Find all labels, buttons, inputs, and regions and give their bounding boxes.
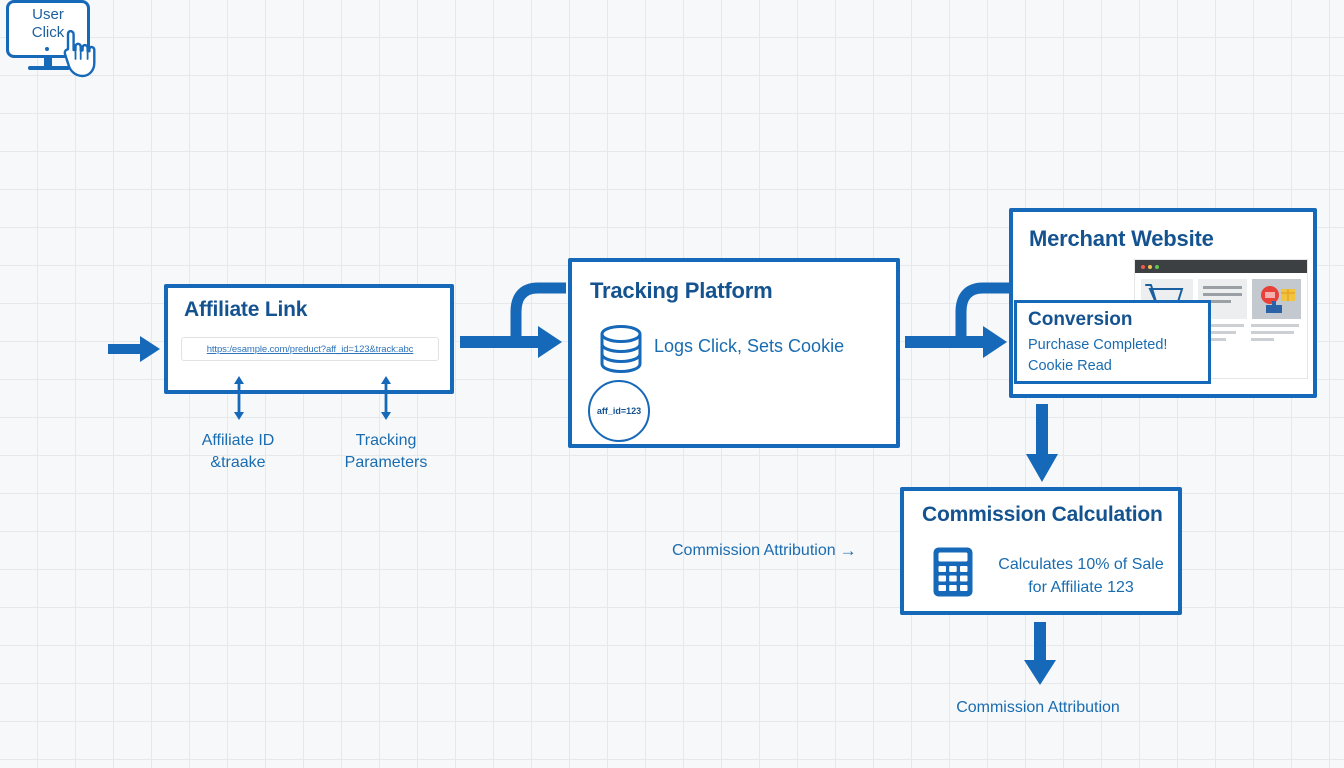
commission-calculation-title: Commission Calculation: [922, 503, 1163, 527]
affiliate-link-title: Affiliate Link: [184, 298, 307, 322]
commission-attribution-bottom-label: Commission Attribution: [898, 697, 1178, 719]
commission-calculation-node[interactable]: Commission Calculation Calculates 10% of…: [900, 487, 1182, 615]
commission-caption-line2: for Affiliate 123: [986, 576, 1176, 599]
callout-arrow-affiliate-id: [232, 376, 246, 420]
conversion-line1: Purchase Completed!: [1028, 335, 1167, 356]
calculator-icon: [932, 546, 974, 598]
browser-dot-yellow-icon: [1148, 265, 1152, 269]
tracking-params-annotation: Tracking Parameters: [316, 430, 456, 474]
merchant-website-title: Merchant Website: [1029, 226, 1214, 252]
arrow-user-to-affiliate: [108, 334, 162, 364]
affiliate-url-chip[interactable]: https:/esample.com/preduct?aff_id=123&tr…: [181, 337, 439, 361]
database-icon: [598, 324, 644, 374]
callout-arrow-tracking-params: [379, 376, 393, 420]
tracking-platform-caption: Logs Click, Sets Cookie: [654, 336, 844, 357]
user-click-label-line1: User: [0, 6, 96, 24]
browser-dot-green-icon: [1155, 265, 1159, 269]
commission-attribution-side-text: Commission Attribution: [672, 540, 836, 562]
pointing-hand-cursor-icon: [54, 30, 98, 78]
conversion-details: Purchase Completed! Cookie Read: [1028, 335, 1167, 377]
affiliate-url-text: https:/esample.com/preduct?aff_id=123&tr…: [207, 344, 414, 355]
conversion-line2: Cookie Read: [1028, 356, 1167, 377]
arrow-right-icon: →: [840, 540, 857, 562]
user-click-node[interactable]: User Click: [0, 0, 96, 72]
arrow-merchant-to-commission: [1024, 404, 1060, 486]
affiliate-id-annotation-line1: Affiliate ID: [168, 430, 308, 452]
diagram-canvas: User Click Affiliate Link https:/esample…: [0, 0, 1344, 768]
arrow-commission-to-attribution: [1022, 622, 1058, 688]
arrow-tracking-to-merchant: [905, 276, 1011, 372]
monitor-power-dot-icon: [45, 47, 49, 51]
tracking-platform-node[interactable]: Tracking Platform Logs Click, Sets Cooki…: [568, 258, 900, 448]
commission-attribution-side-label: Commission Attribution →: [672, 540, 902, 562]
conversion-callout[interactable]: Conversion Purchase Completed! Cookie Re…: [1014, 300, 1211, 384]
browser-promo-image: [1252, 279, 1301, 319]
tracking-platform-title: Tracking Platform: [590, 278, 772, 304]
affiliate-id-annotation-line2: &traake: [168, 452, 308, 474]
cookie-badge-label: aff_id=123: [597, 406, 641, 416]
commission-caption-line1: Calculates 10% of Sale: [986, 553, 1176, 576]
browser-titlebar: [1135, 260, 1307, 273]
conversion-title: Conversion: [1028, 309, 1133, 331]
cookie-badge: aff_id=123: [588, 380, 650, 442]
affiliate-id-annotation: Affiliate ID &traake: [168, 430, 308, 474]
commission-calculation-caption: Calculates 10% of Sale for Affiliate 123: [986, 553, 1176, 599]
affiliate-link-node[interactable]: Affiliate Link https:/esample.com/preduc…: [164, 284, 454, 394]
tracking-params-annotation-line2: Parameters: [316, 452, 456, 474]
browser-dot-red-icon: [1141, 265, 1145, 269]
tracking-params-annotation-line1: Tracking: [316, 430, 456, 452]
arrow-affiliate-to-tracking: [460, 276, 566, 372]
